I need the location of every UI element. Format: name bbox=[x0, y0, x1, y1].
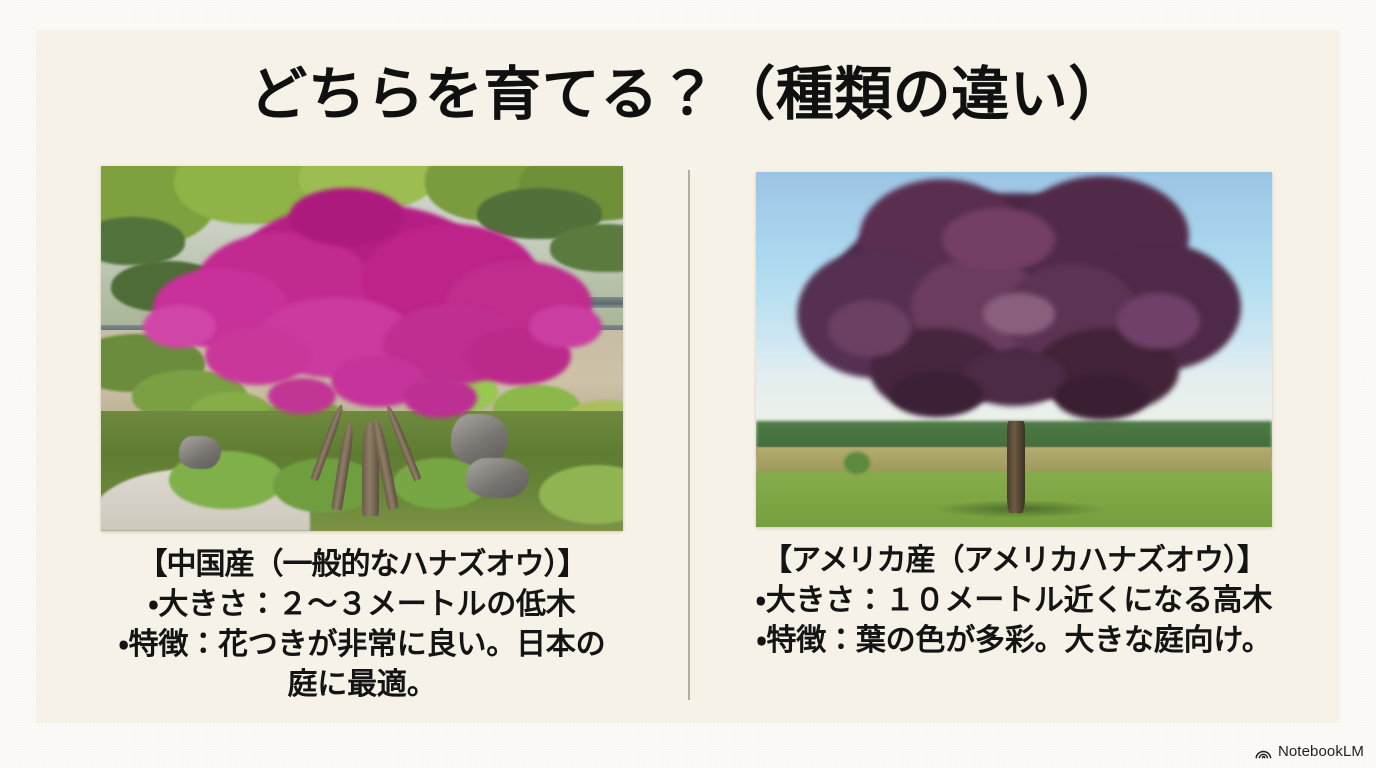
page-title: どちらを育てる？（種類の違い） bbox=[36, 64, 1340, 125]
notebooklm-spiral-icon bbox=[1255, 744, 1272, 759]
slide-card: どちらを育てる？（種類の違い） bbox=[36, 30, 1340, 723]
photo-american-redbud bbox=[756, 172, 1272, 527]
caption-line: ・特徴：葉の色が多彩。大きな庭向け。 bbox=[724, 621, 1304, 661]
caption-line: 【中国産（一般的なハナズオウ）】 bbox=[82, 545, 642, 585]
comparison-columns: 【中国産（一般的なハナズオウ）】 ・大きさ：２〜３メートルの低木 ・特徴：花つき… bbox=[36, 160, 1340, 720]
caption-line: ・特徴：花つきが非常に良い。日本の bbox=[82, 625, 642, 665]
caption-line: ・大きさ：２〜３メートルの低木 bbox=[82, 585, 642, 625]
caption-america: 【アメリカ産（アメリカハナズオウ）】 ・大きさ：１０メートル近くになる高木 ・特… bbox=[724, 541, 1304, 661]
caption-china: 【中国産（一般的なハナズオウ）】 ・大きさ：２〜３メートルの低木 ・特徴：花つき… bbox=[82, 545, 642, 705]
slide-canvas: どちらを育てる？（種類の違い） bbox=[0, 0, 1376, 768]
photo-chinese-redbud bbox=[101, 166, 623, 531]
column-america: 【アメリカ産（アメリカハナズオウ）】 ・大きさ：１０メートル近くになる高木 ・特… bbox=[688, 160, 1340, 720]
caption-line: ・大きさ：１０メートル近くになる高木 bbox=[724, 581, 1304, 621]
column-china: 【中国産（一般的なハナズオウ）】 ・大きさ：２〜３メートルの低木 ・特徴：花つき… bbox=[36, 160, 688, 720]
caption-line: 【アメリカ産（アメリカハナズオウ）】 bbox=[724, 541, 1304, 581]
notebooklm-watermark: NotebookLM bbox=[1255, 743, 1364, 760]
caption-line: 庭に最適。 bbox=[82, 665, 642, 705]
notebooklm-label: NotebookLM bbox=[1278, 743, 1364, 760]
